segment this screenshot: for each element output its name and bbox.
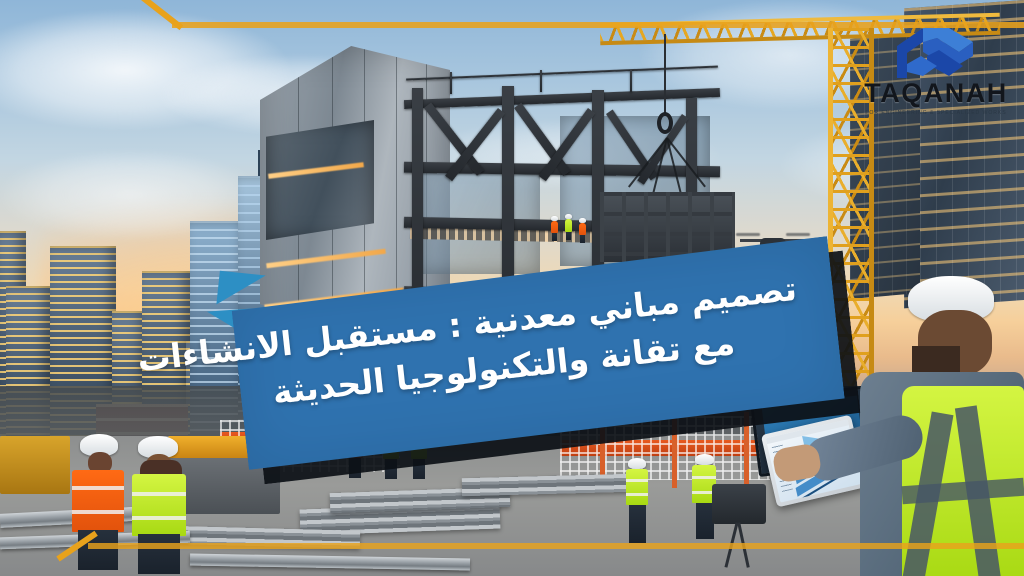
crane-cable <box>664 34 666 114</box>
yellow-plant-machine <box>0 436 70 494</box>
frame-top-horizontal <box>172 22 1024 28</box>
crane-rigging <box>612 138 722 198</box>
logo-wordmark: TAQANAH <box>862 80 1010 107</box>
logo-tagline: FOR ENGINEERING & SPECIALIZED WORKS <box>862 110 1010 116</box>
engineer-with-tablet <box>860 276 1024 576</box>
frame-bottom-horizontal <box>88 543 1024 549</box>
surveying-instrument <box>712 484 766 524</box>
crane-hook <box>657 112 673 134</box>
brand-logo[interactable]: TAQANAH FOR ENGINEERING & SPECIALIZED WO… <box>862 28 1010 124</box>
cantilever-box <box>266 120 374 240</box>
taqanah-arrow-icon <box>893 28 979 78</box>
worker-lime-vest <box>122 430 194 570</box>
worker-background-d <box>620 458 654 544</box>
poster-canvas: تصميم مباني معدنية : مستقبل الانشاءات مع… <box>0 0 1024 576</box>
